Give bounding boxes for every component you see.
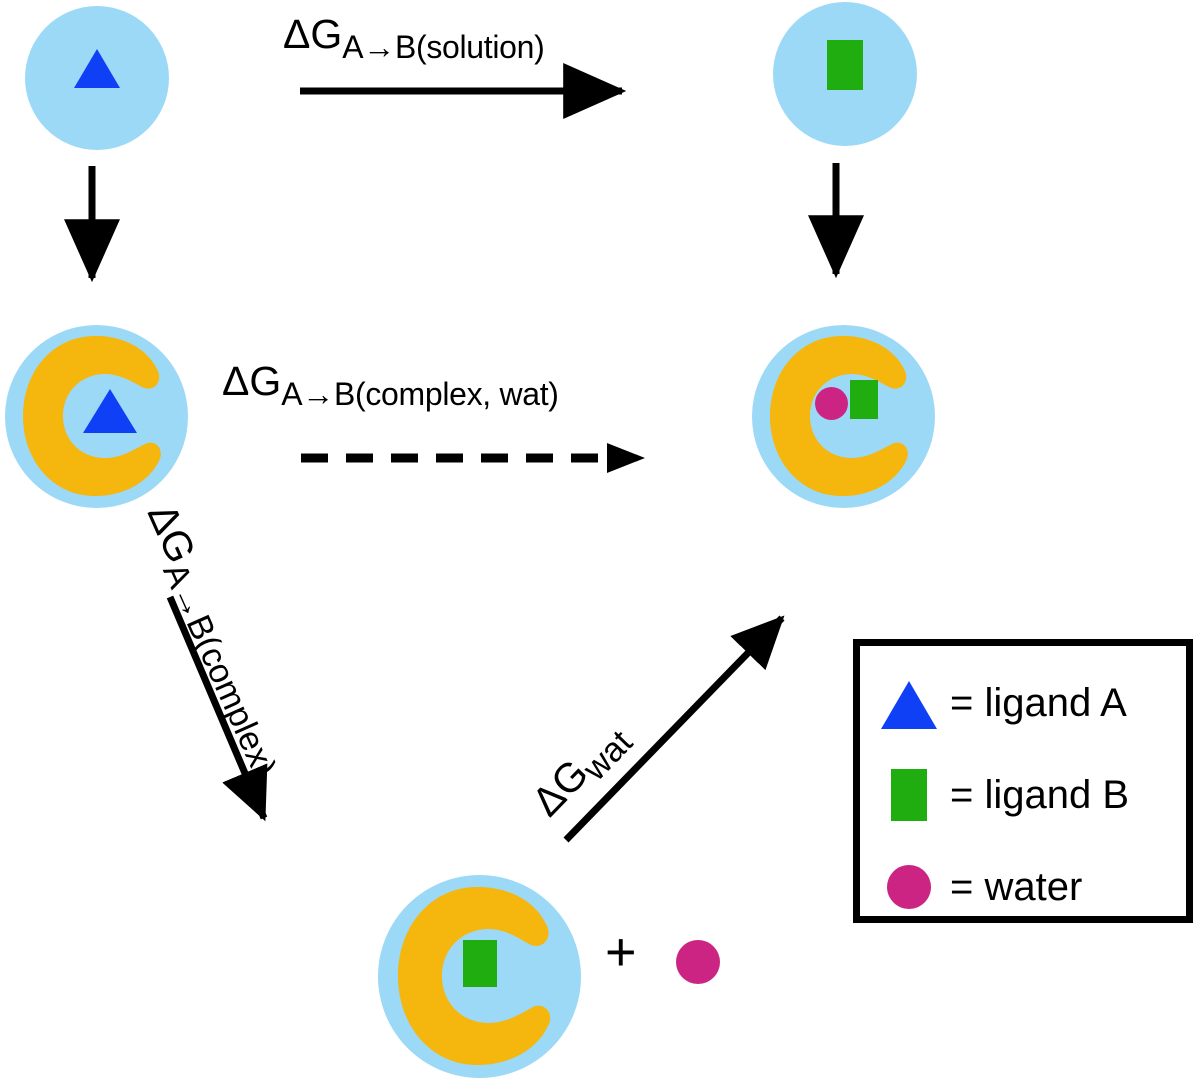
- water-circle-icon: [887, 865, 931, 909]
- legend-label-water: = water: [950, 865, 1082, 910]
- ligand-b-square-icon: [891, 769, 927, 821]
- node-ligand-b-solution: [773, 2, 917, 146]
- label-dg-solution: ΔGA→B(solution): [283, 14, 544, 55]
- legend-item-water: = water: [878, 854, 1178, 920]
- legend-item-ligand-b: = ligand B: [878, 762, 1178, 828]
- ligand-b-square: [850, 380, 878, 419]
- protein-c-shape: [752, 325, 935, 508]
- diagram-canvas: +: [0, 0, 1200, 1079]
- legend-swatch-wrap: [878, 678, 940, 729]
- ligand-a-triangle: [83, 386, 137, 433]
- node-complex-ligand-a: [5, 325, 188, 508]
- ligand-a-triangle-icon: [881, 678, 937, 729]
- plus-symbol: +: [605, 925, 637, 979]
- legend-label-ligand-b: = ligand B: [950, 773, 1129, 818]
- free-water-circle: [676, 940, 720, 984]
- label-dg-solution-main: ΔG: [283, 11, 342, 57]
- label-dg-complex-sub: A→B(complex): [155, 558, 283, 783]
- legend-item-ligand-a: = ligand A: [878, 670, 1178, 736]
- node-complex-ligand-b-water: [752, 325, 935, 508]
- label-dg-wat: ΔGwat: [525, 714, 639, 829]
- label-dg-complex-wat-main: ΔG: [222, 358, 281, 404]
- ligand-b-square: [463, 940, 497, 987]
- label-dg-complex: ΔGA→B(complex): [133, 498, 296, 782]
- label-dg-complex-wat: ΔGA→B(complex, wat): [222, 361, 559, 402]
- label-dg-complex-wat-sub: A→B(complex, wat): [281, 376, 558, 412]
- label-dg-solution-sub: A→B(solution): [342, 29, 544, 65]
- legend-label-ligand-a: = ligand A: [950, 681, 1127, 726]
- node-complex-ligand-b: [378, 875, 581, 1078]
- water-circle: [815, 387, 848, 420]
- legend-box: = ligand A = ligand B = water: [853, 639, 1193, 923]
- ligand-a-triangle: [74, 46, 120, 88]
- ligand-b-square: [827, 40, 863, 90]
- arrow-middle-dashed: [301, 443, 645, 473]
- legend-swatch-wrap: [878, 865, 940, 909]
- legend-swatch-wrap: [878, 769, 940, 821]
- node-ligand-a-solution: [25, 6, 169, 150]
